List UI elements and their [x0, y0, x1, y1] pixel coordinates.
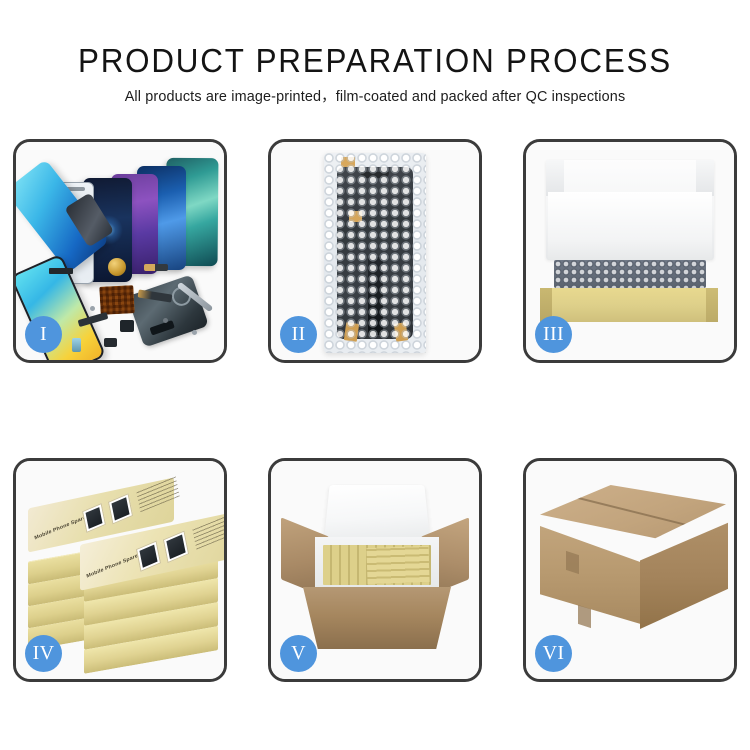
styrofoam-lid-icon — [324, 485, 430, 540]
yellow-box-front-icon — [540, 288, 718, 322]
foam-sheet-icon — [548, 192, 712, 260]
tape-bottom-right-icon — [394, 322, 408, 341]
box-window-front-2 — [163, 530, 189, 563]
screw-1-icon — [90, 306, 95, 311]
box-window-front-1 — [136, 541, 161, 572]
carton-tape-lower-icon — [578, 605, 591, 628]
step-badge-2: II — [280, 316, 317, 353]
box-stack-icon: Mobile Phone Spare Parts Mobile Phone Sp… — [26, 489, 220, 661]
phone-back-housing-icon — [127, 274, 209, 347]
box-lid-flap-left-icon — [546, 160, 564, 196]
step-badge-1: I — [25, 316, 62, 353]
bubble-wrap-package-icon — [324, 153, 426, 353]
page-header: PRODUCT PREPARATION PROCESS All products… — [0, 0, 750, 130]
speaker-module-icon — [120, 320, 134, 332]
screen-flex-tail-icon — [368, 257, 383, 335]
small-chip-icon — [72, 338, 81, 352]
flex-cable-c-icon — [144, 264, 168, 271]
tape-top-icon — [341, 157, 355, 167]
process-step-grid: I II III — [13, 139, 737, 682]
process-step-panel-5[interactable]: V — [268, 458, 482, 682]
small-black-part-icon — [104, 338, 117, 347]
box-window-back-1 — [82, 503, 106, 533]
process-step-panel-2[interactable]: II — [268, 139, 482, 363]
earpiece-bar-icon — [49, 268, 73, 274]
process-step-panel-6[interactable]: VI — [523, 458, 737, 682]
step-badge-4: IV — [25, 635, 62, 672]
carton-tape-upper-icon — [566, 551, 579, 574]
process-step-panel-4[interactable]: Mobile Phone Spare Parts Mobile Phone Sp… — [13, 458, 227, 682]
box-spec-lines-back — [136, 476, 179, 513]
step-badge-5: V — [280, 635, 317, 672]
step-badge-6: VI — [535, 635, 572, 672]
screw-3-icon — [192, 330, 197, 335]
tape-bottom-left-icon — [344, 322, 359, 342]
bubble-sheet-layer-icon — [554, 260, 706, 288]
box-spec-lines-front — [192, 513, 227, 550]
carton-body-icon — [303, 587, 451, 649]
tape-mid-icon — [349, 211, 362, 222]
page-subtitle: All products are image-printed，film-coat… — [0, 79, 750, 106]
page-title: PRODUCT PREPARATION PROCESS — [19, 0, 732, 79]
packed-boxes-row-b-icon — [366, 546, 429, 584]
vibration-motor-icon — [108, 258, 126, 276]
step-badge-3: III — [535, 316, 572, 353]
screw-2-icon — [163, 318, 168, 323]
process-step-panel-1[interactable]: I — [13, 139, 227, 363]
box-lid-flap-right-icon — [696, 160, 714, 196]
process-step-panel-3[interactable]: III — [523, 139, 737, 363]
box-window-back-2 — [108, 493, 133, 524]
connector-grid-icon — [99, 285, 134, 315]
